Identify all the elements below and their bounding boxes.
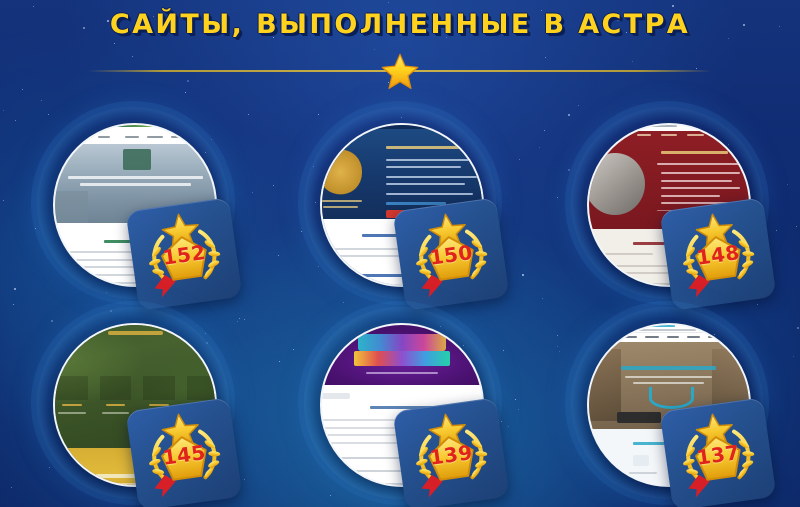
portfolio-card[interactable]: 148 <box>568 104 766 302</box>
award-badge: 145 <box>126 397 243 507</box>
portfolio-card[interactable]: 152 <box>34 104 232 302</box>
award-badge: 148 <box>659 197 776 311</box>
award-badge: 139 <box>393 397 510 507</box>
page-title: САЙТЫ, ВЫПОЛНЕННЫЕ В АСТРА <box>0 9 800 40</box>
portfolio-card[interactable]: 145 <box>34 304 232 502</box>
award-badge: 137 <box>659 397 776 507</box>
slide-root: САЙТЫ, ВЫПОЛНЕННЫЕ В АСТРА <box>0 0 800 507</box>
portfolio-card[interactable]: 137 <box>568 304 766 502</box>
award-badge: 150 <box>393 197 510 311</box>
award-badge: 152 <box>126 197 243 311</box>
portfolio-grid: 152 <box>0 104 800 504</box>
portfolio-card[interactable]: 150 <box>301 104 499 302</box>
gold-star-icon <box>379 51 421 93</box>
portfolio-card[interactable]: 139 <box>301 304 499 502</box>
